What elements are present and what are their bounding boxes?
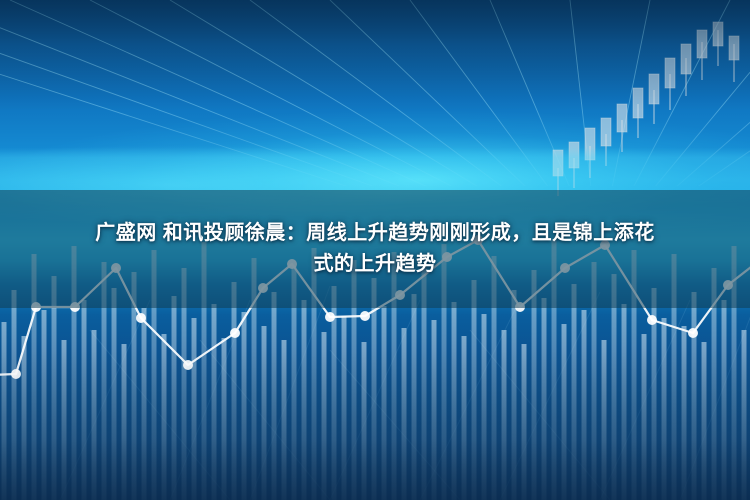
headline-line-1: 广盛网 和讯投顾徐晨：周线上升趋势刚刚形成，且是锦上添花 xyxy=(95,221,655,246)
news-cover-banner: 广盛网 和讯投顾徐晨：周线上升趋势刚刚形成，且是锦上添花 式的上升趋势 xyxy=(0,0,750,500)
headline-line-2: 式的上升趋势 xyxy=(314,252,437,277)
headline: 广盛网 和讯投顾徐晨：周线上升趋势刚刚形成，且是锦上添花 式的上升趋势 xyxy=(0,190,750,308)
